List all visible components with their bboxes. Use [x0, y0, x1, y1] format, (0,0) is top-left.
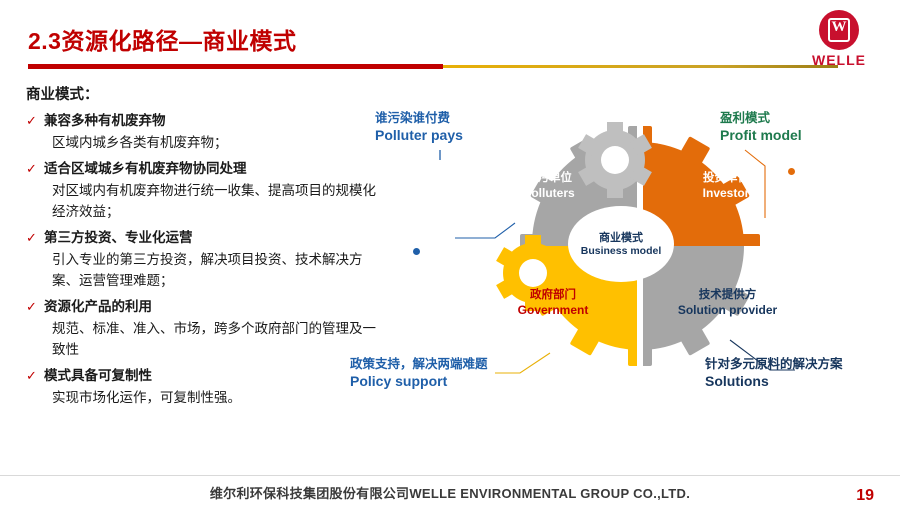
footer-text: 维尔利环保科技集团股份有限公司WELLE ENVIRONMENTAL GROUP…: [0, 483, 900, 502]
quadrant-investor-cn: 投资单位: [680, 171, 772, 186]
list-item: ✓ 模式具备可复制性 实现市场化运作，可复制性强。: [26, 366, 386, 408]
check-icon: ✓: [26, 366, 44, 386]
callout-policy-support-cn: 政策支持，解决两端难题: [350, 356, 570, 373]
business-model-list: 商业模式： ✓ 兼容多种有机废弃物 区域内城乡各类有机废弃物； ✓ 适合区域城乡…: [26, 83, 386, 414]
company-logo: W WELLE: [800, 10, 878, 72]
quadrant-polluters-en: Polluters: [503, 186, 595, 201]
callout-profit-model: 盈利模式 Profit model: [720, 110, 880, 144]
quadrant-investor: 投资单位 Investor: [680, 171, 772, 201]
list-item-head: 资源化产品的利用: [44, 297, 152, 317]
callout-solutions: 针对多元原料的解决方案 Solutions: [705, 356, 895, 390]
page-number: 19: [856, 487, 874, 505]
list-item-body: 实现市场化运作，可复制性强。: [52, 387, 386, 408]
list-item-body: 对区域内有机废弃物进行统一收集、提高项目的规模化经济效益；: [52, 180, 386, 222]
title-rule-gold: [443, 65, 838, 68]
footer-divider: [0, 475, 900, 476]
check-icon: ✓: [26, 159, 44, 179]
diagram-hub: 商业模式 Business model: [568, 206, 674, 282]
callout-polluter-pays: 谁污染谁付费 Polluter pays: [375, 110, 515, 144]
callout-polluter-pays-cn: 谁污染谁付费: [375, 110, 515, 127]
check-icon: ✓: [26, 111, 44, 131]
quadrant-government-cn: 政府部门: [503, 288, 603, 303]
callout-solutions-en: Solutions: [705, 373, 895, 390]
list-item: ✓ 第三方投资、专业化运营 引入专业的第三方投资，解决项目投资、技术解决方案、运…: [26, 228, 386, 291]
check-icon: ✓: [26, 228, 44, 248]
list-item-body: 引入专业的第三方投资，解决项目投资、技术解决方案、运营管理难题；: [52, 249, 386, 291]
quadrant-solution-cn: 技术提供方: [675, 288, 780, 303]
page-title: 2.3资源化路径—商业模式: [28, 22, 296, 56]
quadrant-solution-provider: 技术提供方 Solution provider: [675, 288, 780, 318]
quadrant-polluters: 排污单位 Polluters: [503, 171, 595, 201]
hub-label-en: Business model: [581, 245, 662, 258]
callout-polluter-pays-en: Polluter pays: [375, 127, 515, 144]
list-item-body: 区域内城乡各类有机废弃物；: [52, 132, 386, 153]
logo-mark-letter: W: [819, 19, 859, 36]
quadrant-government: 政府部门 Government: [503, 288, 603, 318]
list-item-body: 规范、标准、准入、市场，跨多个政府部门的管理及一致性: [52, 318, 386, 360]
callout-dot-icon: [788, 168, 795, 175]
quadrant-government-en: Government: [503, 303, 603, 318]
list-item-head: 适合区域城乡有机废弃物协同处理: [44, 159, 247, 179]
logo-mark-icon: W: [819, 10, 859, 50]
callout-profit-model-en: Profit model: [720, 127, 880, 144]
list-item-head: 模式具备可复制性: [44, 366, 152, 386]
hub-label-cn: 商业模式: [599, 231, 643, 245]
callout-solutions-cn: 针对多元原料的解决方案: [705, 356, 895, 373]
callout-dot-icon: [413, 248, 420, 255]
list-item-head: 第三方投资、专业化运营: [44, 228, 193, 248]
list-item-head: 兼容多种有机废弃物: [44, 111, 166, 131]
quadrant-solution-en: Solution provider: [675, 303, 780, 318]
list-item: ✓ 资源化产品的利用 规范、标准、准入、市场，跨多个政府部门的管理及一致性: [26, 297, 386, 360]
slide: 2.3资源化路径—商业模式 W WELLE 商业模式： ✓ 兼容多种有机废弃物 …: [0, 0, 900, 513]
list-item: ✓ 适合区域城乡有机废弃物协同处理 对区域内有机废弃物进行统一收集、提高项目的规…: [26, 159, 386, 222]
callout-policy-support-en: Policy support: [350, 373, 570, 390]
callout-policy-support: 政策支持，解决两端难题 Policy support: [350, 356, 570, 390]
title-rule-red: [28, 64, 443, 69]
business-model-diagram: 商业模式 Business model 排污单位 Polluters 投资单位 …: [400, 88, 880, 418]
quadrant-polluters-cn: 排污单位: [503, 171, 595, 186]
list-lead: 商业模式：: [26, 83, 386, 104]
check-icon: ✓: [26, 297, 44, 317]
callout-profit-model-cn: 盈利模式: [720, 110, 880, 127]
list-item: ✓ 兼容多种有机废弃物 区域内城乡各类有机废弃物；: [26, 111, 386, 153]
logo-wordmark: WELLE: [800, 52, 878, 68]
quadrant-investor-en: Investor: [680, 186, 772, 201]
